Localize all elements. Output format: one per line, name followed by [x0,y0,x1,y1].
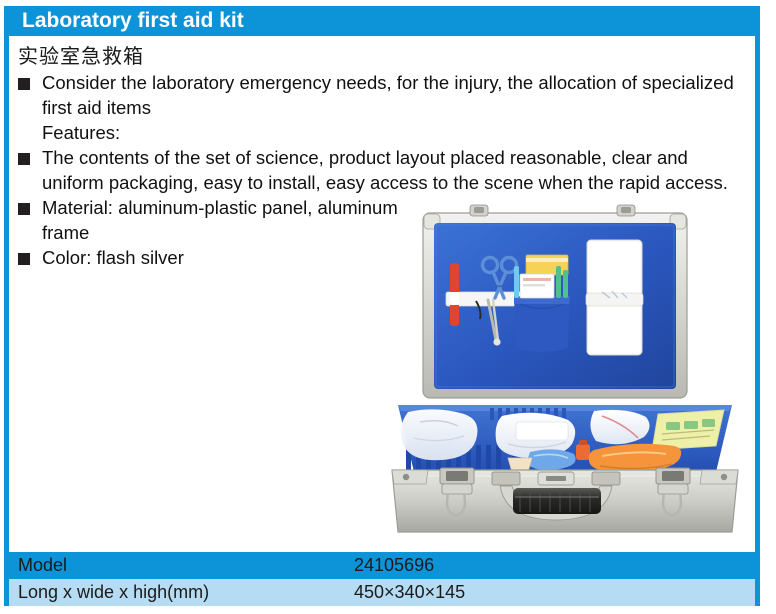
features-heading: Features: [14,120,749,145]
square-bullet-icon [18,253,30,265]
feature-item-label: Material: aluminum-plastic panel, alumin… [42,195,402,245]
table-row: Long x wide x high(mm) 450×340×145 [9,579,755,606]
spec-value-model: 24105696 [354,552,755,579]
product-spec-sheet: Laboratory first aid kit 实验室急救箱 Consider… [0,0,776,614]
title-bar: Laboratory first aid kit [4,6,760,36]
spec-value-dimensions: 450×340×145 [354,579,755,606]
features-heading-label: Features: [42,122,120,143]
square-bullet-icon [18,78,30,90]
frame-border-right [755,6,760,606]
square-bullet-icon [18,153,30,165]
feature-item: Material: aluminum-plastic panel, alumin… [14,195,402,245]
table-row: Model 24105696 [9,552,755,579]
page-title: Laboratory first aid kit [22,9,244,33]
feature-item-label: Consider the laboratory emergency needs,… [42,70,749,120]
spec-label-dimensions: Long x wide x high(mm) [9,579,354,606]
spec-label-model: Model [9,552,354,579]
feature-item-label: Color: flash silver [42,245,402,270]
feature-item: Consider the laboratory emergency needs,… [14,70,749,120]
product-photo [380,200,752,540]
feature-item: The contents of the set of science, prod… [14,145,749,195]
specification-table: Model 24105696 Long x wide x high(mm) 45… [9,552,755,606]
page-subtitle-chinese: 实验室急救箱 [18,40,144,69]
feature-item: Color: flash silver [14,245,402,270]
feature-item-label: The contents of the set of science, prod… [42,145,749,195]
frame-border-left [4,6,9,606]
square-bullet-icon [18,203,30,215]
